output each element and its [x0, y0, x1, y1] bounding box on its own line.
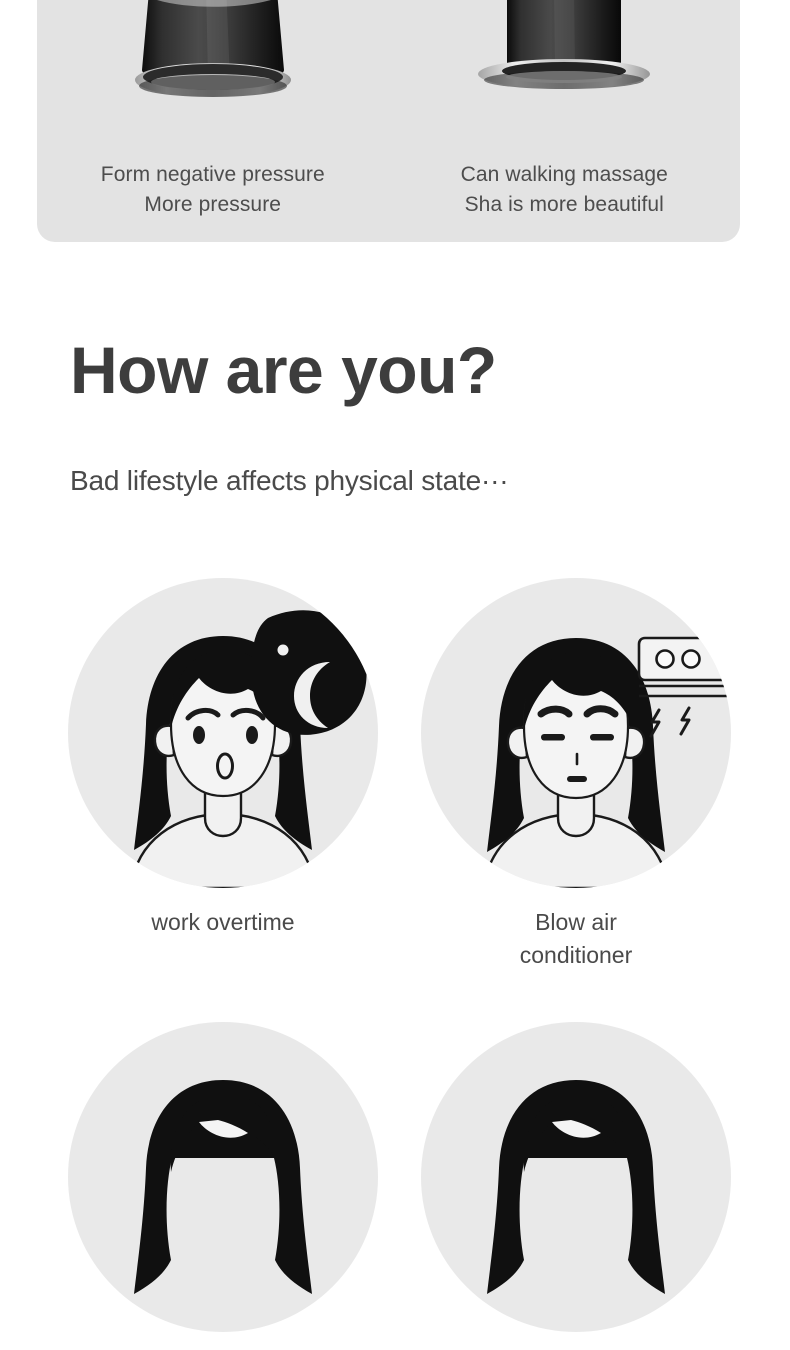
woman-illustration-partial-fourth	[421, 1022, 731, 1332]
symptom-item-third	[68, 1022, 378, 1350]
caption-line: work overtime	[68, 906, 378, 939]
cupping-cup-flared-base-photo	[98, 0, 328, 130]
woman-illustration-partial-third	[68, 1022, 378, 1332]
symptom-item-work-overtime: work overtime	[68, 578, 378, 939]
woman-cold-air-conditioner-illustration	[421, 578, 731, 888]
caption-line: Form negative pressure	[101, 160, 325, 190]
symptom-item-fourth	[421, 1022, 731, 1350]
caption-line: conditioner	[421, 939, 731, 972]
section-heading: How are you?	[70, 337, 497, 403]
product-feature-caption: Form negative pressure More pressure	[101, 160, 325, 220]
caption-line: Can walking massage	[461, 160, 668, 190]
product-feature-item: Form negative pressure More pressure	[37, 0, 389, 242]
product-feature-grid: Form negative pressure More pressure	[37, 0, 740, 242]
section-subtitle: Bad lifestyle affects physical state···	[70, 467, 508, 495]
cupping-cup-straight-wall-photo	[449, 0, 679, 130]
symptom-caption: Blow air conditioner	[421, 906, 731, 973]
symptom-caption: work overtime	[68, 906, 378, 939]
caption-line: Sha is more beautiful	[461, 190, 668, 220]
symptom-item-air-conditioner: Blow air conditioner	[421, 578, 731, 973]
woman-yawning-night-moon-illustration	[68, 578, 378, 888]
product-feature-card: Form negative pressure More pressure	[37, 0, 740, 242]
product-feature-caption: Can walking massage Sha is more beautifu…	[461, 160, 668, 220]
product-feature-item: Can walking massage Sha is more beautifu…	[389, 0, 741, 242]
caption-line: More pressure	[101, 190, 325, 220]
caption-line: Blow air	[421, 906, 731, 939]
